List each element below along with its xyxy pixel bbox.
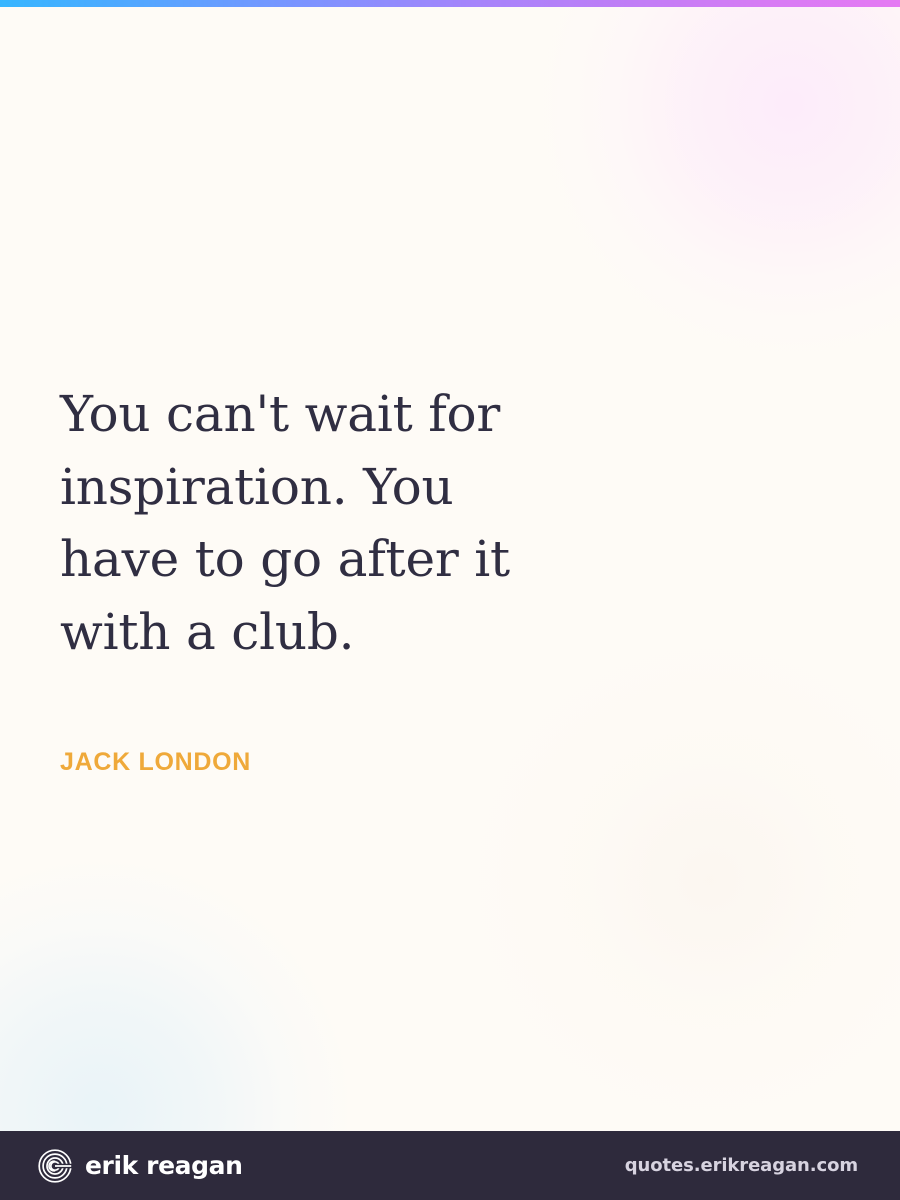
footer-bar: erik reagan quotes.erikreagan.com [0, 1131, 900, 1200]
quote-card: You can't wait for inspiration. You have… [0, 0, 900, 1200]
quote-content: You can't wait for inspiration. You have… [0, 0, 900, 1131]
brand-lockup[interactable]: erik reagan [38, 1149, 243, 1183]
erik-reagan-logo-icon [38, 1149, 72, 1183]
top-gradient-bar [0, 0, 900, 7]
brand-name: erik reagan [85, 1153, 243, 1178]
quote-text: You can't wait for inspiration. You have… [60, 378, 530, 668]
site-url[interactable]: quotes.erikreagan.com [625, 1157, 858, 1175]
quote-author: JACK LONDON [60, 748, 251, 777]
